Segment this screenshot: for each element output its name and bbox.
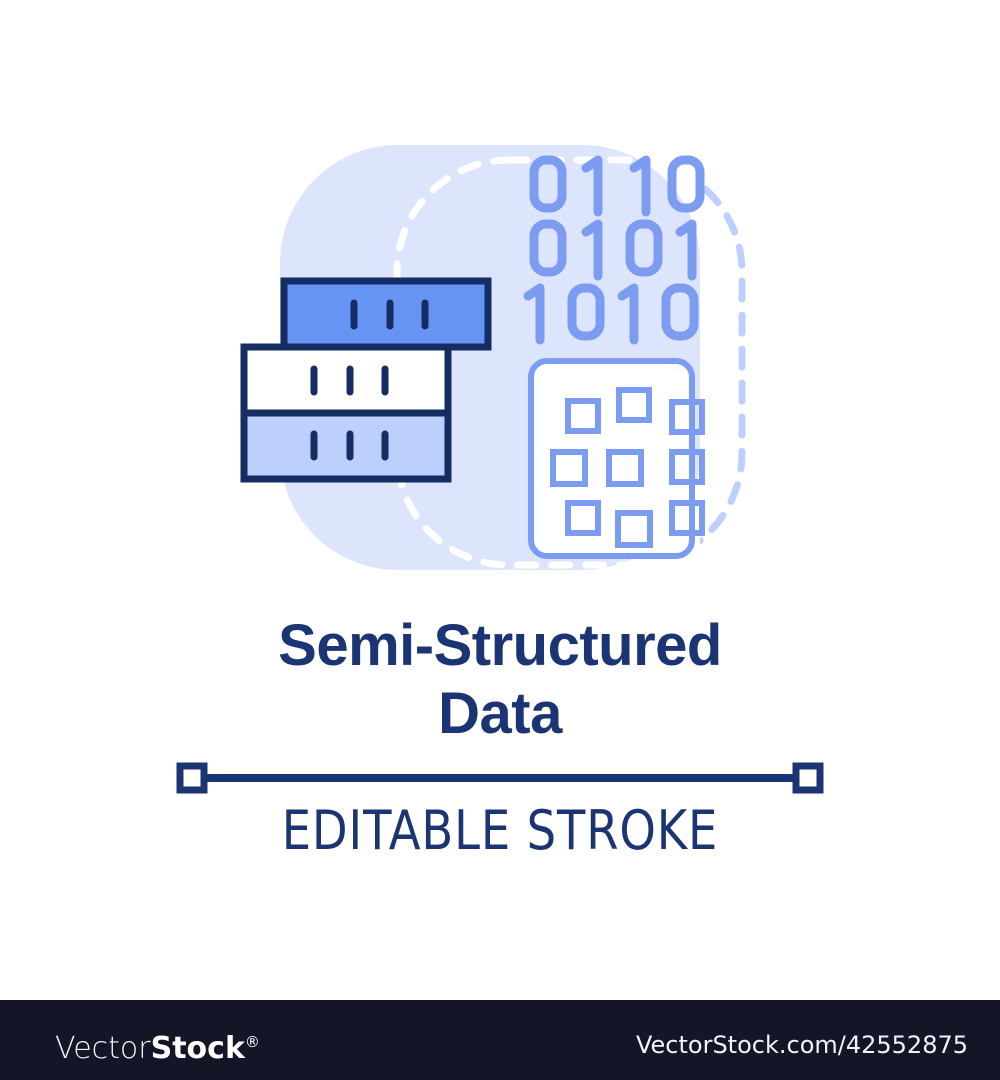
illustration-area [0,0,1000,600]
server-bar-middle [244,347,448,413]
page-title: Semi-Structured Data [0,612,1000,748]
stroke-handle-right[interactable] [796,766,820,790]
vectorstock-logo: VectorStock® [55,1027,260,1064]
stroke-handle-left[interactable] [180,766,204,790]
document-squares-panel [531,361,702,556]
title-line-1: Semi-Structured [0,612,1000,680]
title-line-2: Data [0,680,1000,748]
server-stack [244,281,488,479]
editable-stroke-rule-svg [0,758,1000,798]
editable-stroke-label: EDITABLE STROKE [70,800,930,862]
vectorstock-url: VectorStock.com/42552875 [636,1033,968,1057]
server-bar-bottom [244,413,448,479]
editable-stroke-rule [0,758,1000,798]
logo-text-bold: Stock [151,1031,245,1066]
watermark-footer: VectorStock® VectorStock.com/42552875 [0,1000,1000,1080]
server-bar-top [284,281,488,347]
concept-illustration-svg [0,0,1000,600]
registered-trademark-icon: ® [245,1033,260,1051]
logo-text-light: Vector [55,1031,151,1066]
